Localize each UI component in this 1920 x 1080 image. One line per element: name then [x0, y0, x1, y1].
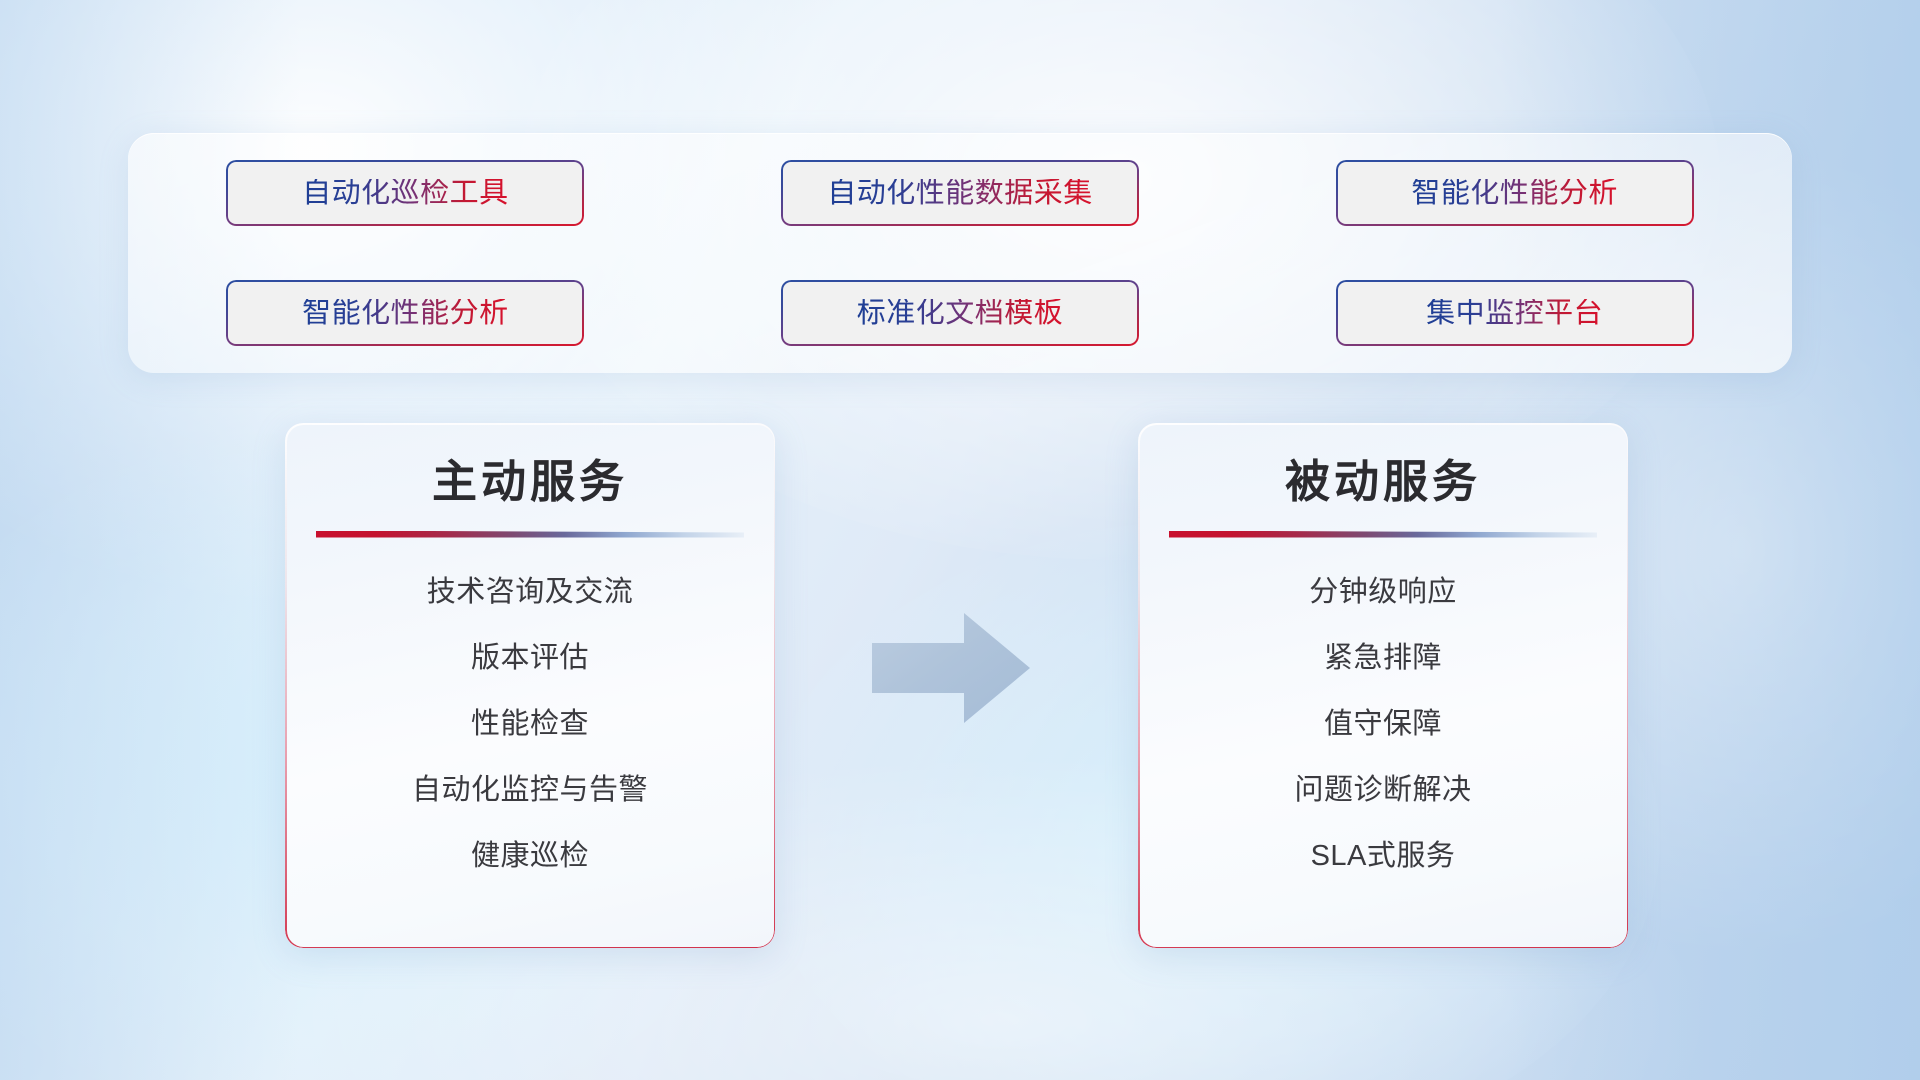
- capability-tag-standardized-document-template[interactable]: 标准化文档模板: [781, 280, 1139, 346]
- capability-tag-panel: 自动化巡检工具 自动化性能数据采集 智能化性能分析 智能化性能分析 标准化文档模…: [128, 133, 1792, 373]
- arrow-right-icon-svg: [872, 613, 1030, 723]
- capability-tag-label: 集中监控平台: [1426, 299, 1603, 328]
- service-card-divider: [1169, 531, 1597, 538]
- list-item[interactable]: 值守保障: [1138, 710, 1628, 739]
- capability-tag-label: 智能化性能分析: [1411, 179, 1618, 208]
- list-item[interactable]: 性能检查: [285, 710, 775, 739]
- list-item[interactable]: 技术咨询及交流: [285, 578, 775, 607]
- capability-tag-centralized-monitoring-platform[interactable]: 集中监控平台: [1336, 280, 1694, 346]
- arrow-right-icon: [872, 613, 1030, 723]
- slide-canvas: 自动化巡检工具 自动化性能数据采集 智能化性能分析 智能化性能分析 标准化文档模…: [0, 0, 1920, 1080]
- service-item-list: 技术咨询及交流 版本评估 性能检查 自动化监控与告警 健康巡检: [285, 538, 775, 871]
- capability-tag-label: 自动化性能数据采集: [827, 179, 1093, 208]
- service-card-title: 主动服务: [285, 423, 775, 507]
- list-item[interactable]: 自动化监控与告警: [285, 776, 775, 805]
- service-card-passive[interactable]: 被动服务 分钟级响应 紧急排障 值守保障 问题诊断解决 SLA式服务: [1138, 423, 1628, 948]
- capability-tag-label: 智能化性能分析: [302, 299, 509, 328]
- service-card-title: 被动服务: [1138, 423, 1628, 507]
- service-item-list: 分钟级响应 紧急排障 值守保障 问题诊断解决 SLA式服务: [1138, 538, 1628, 871]
- capability-tag-label: 自动化巡检工具: [302, 179, 509, 208]
- capability-tag-automated-inspection-tool[interactable]: 自动化巡检工具: [226, 160, 584, 226]
- capability-tag-intelligent-performance-analysis-1[interactable]: 智能化性能分析: [1336, 160, 1694, 226]
- list-item[interactable]: SLA式服务: [1138, 842, 1628, 871]
- list-item[interactable]: 分钟级响应: [1138, 578, 1628, 607]
- list-item[interactable]: 版本评估: [285, 644, 775, 673]
- list-item[interactable]: 紧急排障: [1138, 644, 1628, 673]
- capability-tag-automated-performance-data-collection[interactable]: 自动化性能数据采集: [781, 160, 1139, 226]
- capability-tag-label: 标准化文档模板: [857, 299, 1064, 328]
- list-item[interactable]: 健康巡检: [285, 842, 775, 871]
- service-card-divider: [316, 531, 744, 538]
- list-item[interactable]: 问题诊断解决: [1138, 776, 1628, 805]
- service-card-active[interactable]: 主动服务 技术咨询及交流 版本评估 性能检查 自动化监控与告警 健康巡检: [285, 423, 775, 948]
- capability-tag-intelligent-performance-analysis-2[interactable]: 智能化性能分析: [226, 280, 584, 346]
